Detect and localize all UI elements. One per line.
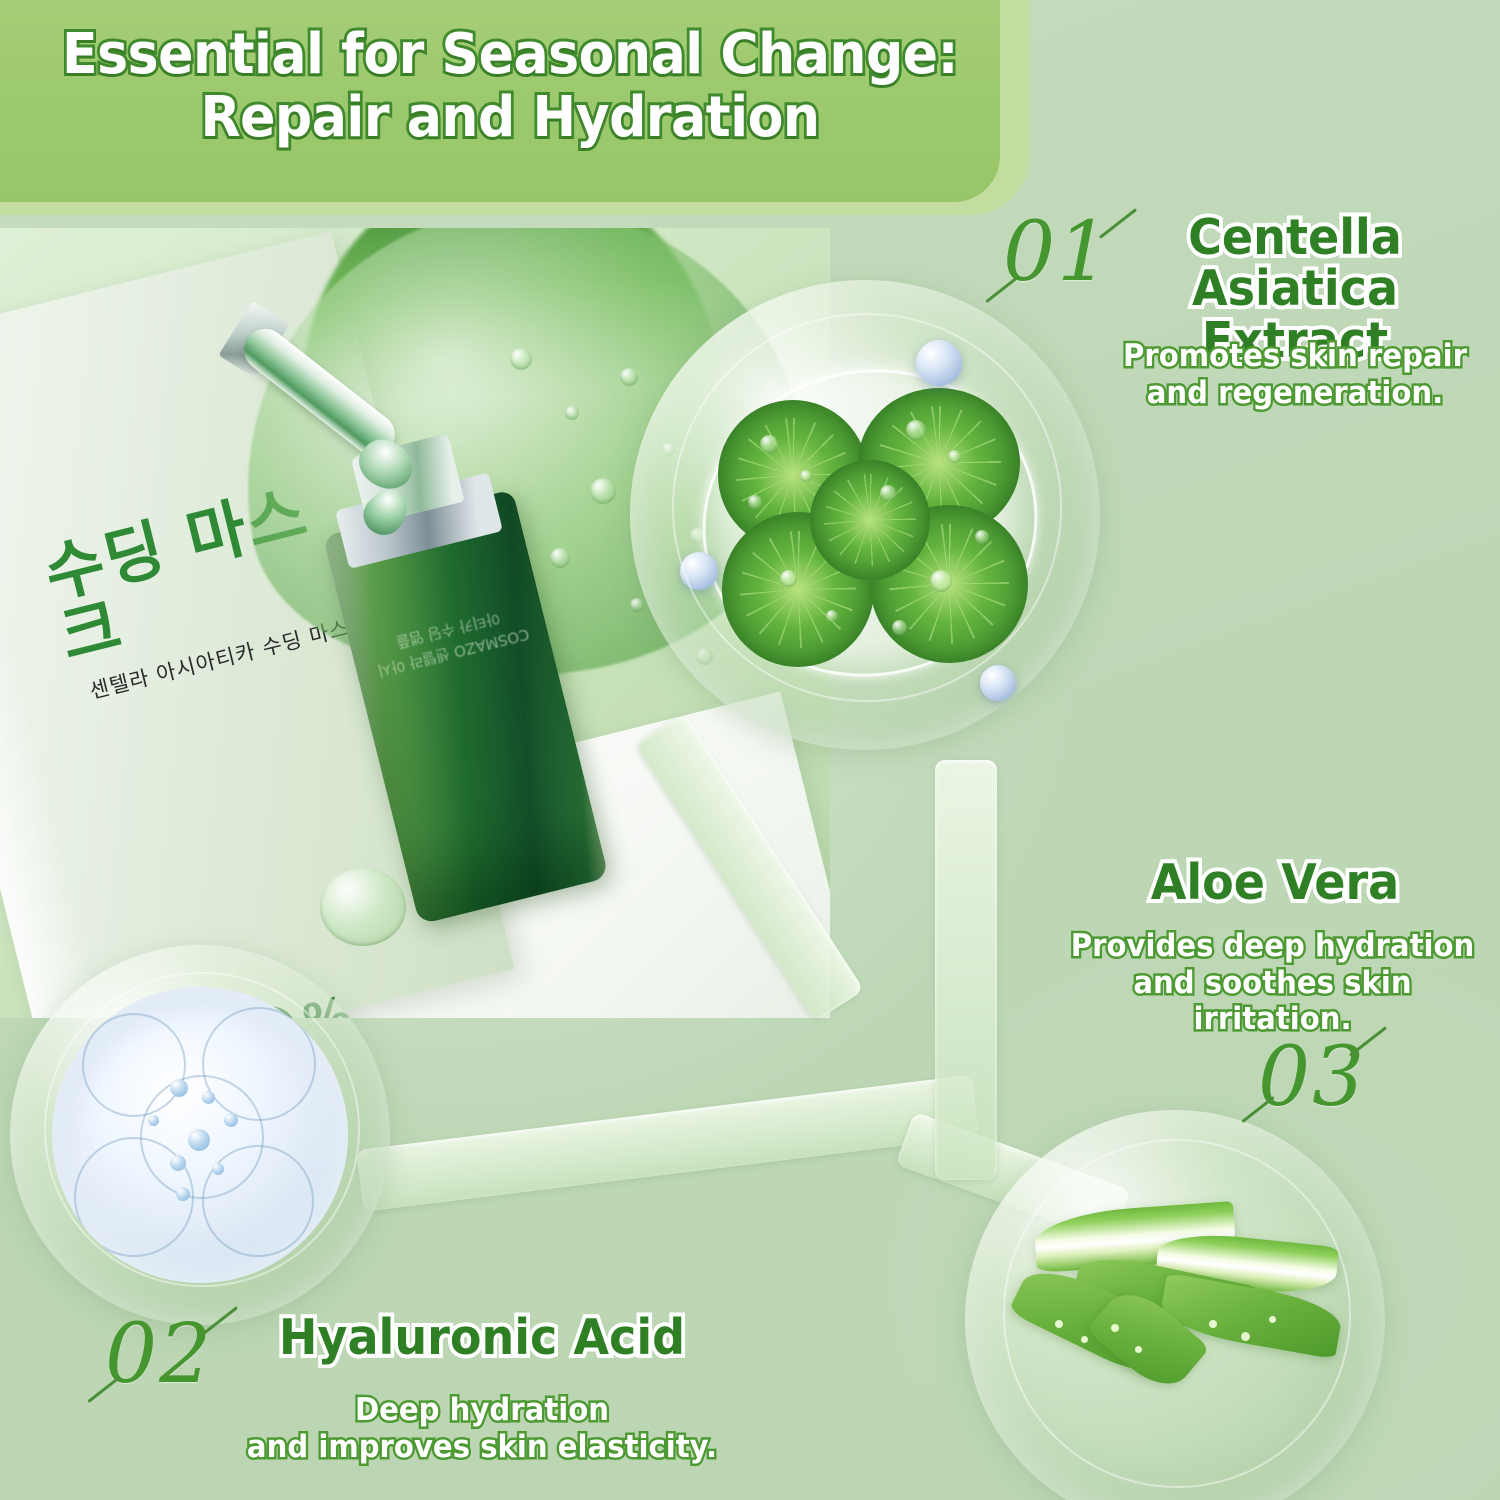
ingredient-number-03: 03 [1258,1030,1366,1125]
ingredient-number-02: 02 [105,1307,213,1402]
water-droplet [510,348,532,370]
page-title: Essential for Seasonal Change: Repair an… [36,24,985,149]
water-droplet [690,528,706,544]
water-droplet [630,598,644,612]
water-droplet [565,406,579,420]
ingredient-description-03: Provides deep hydration and soothes skin… [1059,928,1487,1038]
ingredient-number-01: 01 [1003,205,1111,300]
water-droplet [320,868,406,946]
water-droplet [620,368,638,386]
ingredient-description-02: Deep hydration and improves skin elastic… [191,1392,774,1465]
water-droplet [662,443,675,456]
water-droplet [590,478,616,504]
water-droplet [696,648,713,665]
product-photo: 수딩 마스크 센텔라 아시아티카 수딩 마스크 99% 감초추출물 장벽을 복원… [0,228,830,1018]
infographic-canvas: 수딩 마스크 센텔라 아시아티카 수딩 마스크 99% 감초추출물 장벽을 복원… [0,0,1500,1500]
ingredient-description-01: Promotes skin repair and regeneration. [1098,338,1493,411]
water-droplet [550,548,570,568]
ingredient-title-02: Hyaluronic Acid [247,1312,717,1363]
ingredient-title-03: Aloe Vera [1068,857,1482,908]
